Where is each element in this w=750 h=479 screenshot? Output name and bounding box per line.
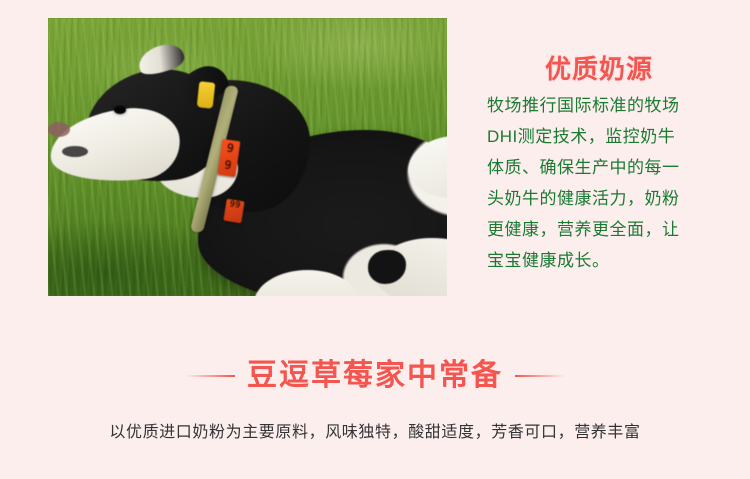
bottom-headline: 豆逗草莓家中常备	[247, 359, 503, 393]
collar-tag-digit-upper: 9	[226, 141, 235, 156]
dairy-cow-photo: 99 99	[48, 18, 447, 296]
cow-ear-tag-icon	[197, 81, 216, 109]
divider-rule-right	[515, 375, 565, 377]
cow-white-patch-flank	[254, 270, 358, 296]
collar-tag-digit-lower: 9	[223, 157, 232, 172]
divider-rule-left	[185, 375, 235, 377]
top-section: 99 99 优质奶源 牧场推行国际标准的牧场 DHI测定技术，监控奶牛 体质、确…	[0, 0, 750, 320]
body-line: 头奶牛的健康活力，奶粉	[487, 183, 740, 214]
body-line: 体质、确保生产中的每一	[487, 152, 740, 183]
cow-mouth	[62, 146, 88, 157]
milk-source-copy-block: 优质奶源 牧场推行国际标准的牧场 DHI测定技术，监控奶牛 体质、确保生产中的每…	[470, 52, 740, 276]
cow-white-patch-shoulder	[408, 136, 447, 198]
body-line: 更健康，营养更全面，让	[487, 214, 740, 245]
body-line: DHI测定技术，监控奶牛	[487, 121, 740, 152]
headline-row: 豆逗草莓家中常备	[0, 352, 750, 400]
body-line: 牧场推行国际标准的牧场	[487, 90, 740, 121]
photo-inner: 99 99	[48, 18, 447, 296]
cow-eye	[114, 106, 126, 114]
section-body-text: 牧场推行国际标准的牧场 DHI测定技术，监控奶牛 体质、确保生产中的每一 头奶牛…	[470, 90, 740, 276]
cow-collar-id-tag-secondary: 99	[223, 199, 244, 224]
section-title: 优质奶源	[470, 52, 740, 86]
body-line: 宝宝健康成长。	[487, 245, 740, 276]
bottom-section: 豆逗草莓家中常备 以优质进口奶粉为主要原料，风味独特，酸甜适度，芳香可口，营养丰…	[0, 352, 750, 479]
cow-nostril	[48, 122, 70, 137]
bottom-subtitle: 以优质进口奶粉为主要原料，风味独特，酸甜适度，芳香可口，营养丰富	[0, 422, 750, 444]
product-detail-page: { "page": { "background_color": "#fdeeee…	[0, 0, 750, 479]
